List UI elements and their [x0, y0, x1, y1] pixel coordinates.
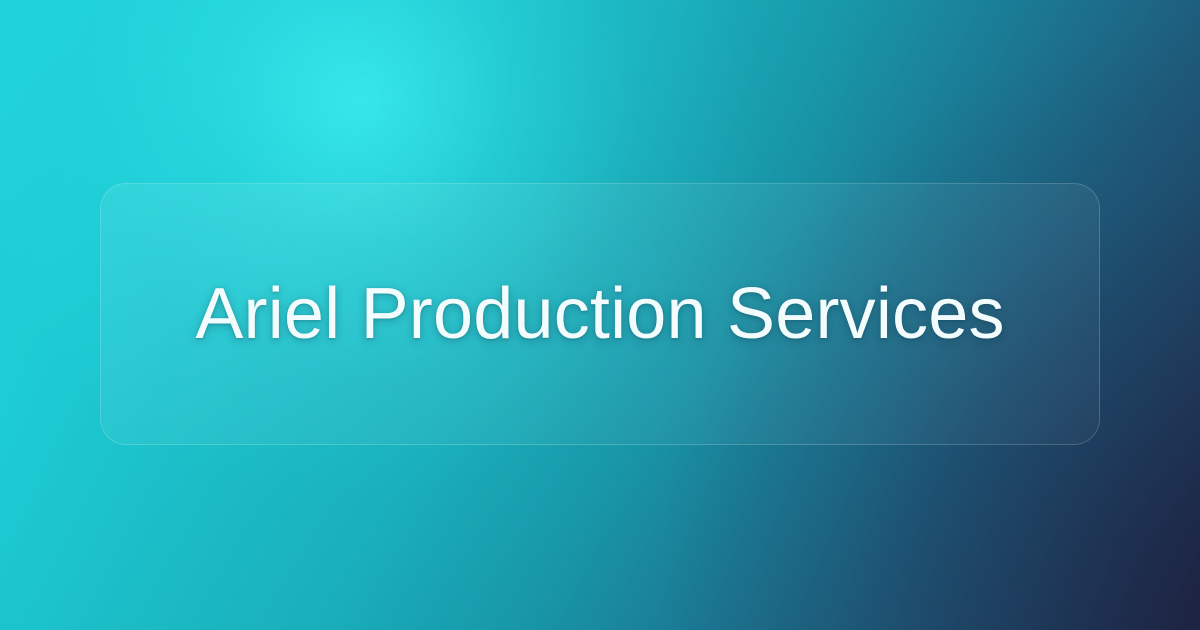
- hero-banner: Ariel Production Services: [0, 0, 1200, 630]
- page-title: Ariel Production Services: [149, 268, 1051, 360]
- title-card: Ariel Production Services: [100, 183, 1100, 445]
